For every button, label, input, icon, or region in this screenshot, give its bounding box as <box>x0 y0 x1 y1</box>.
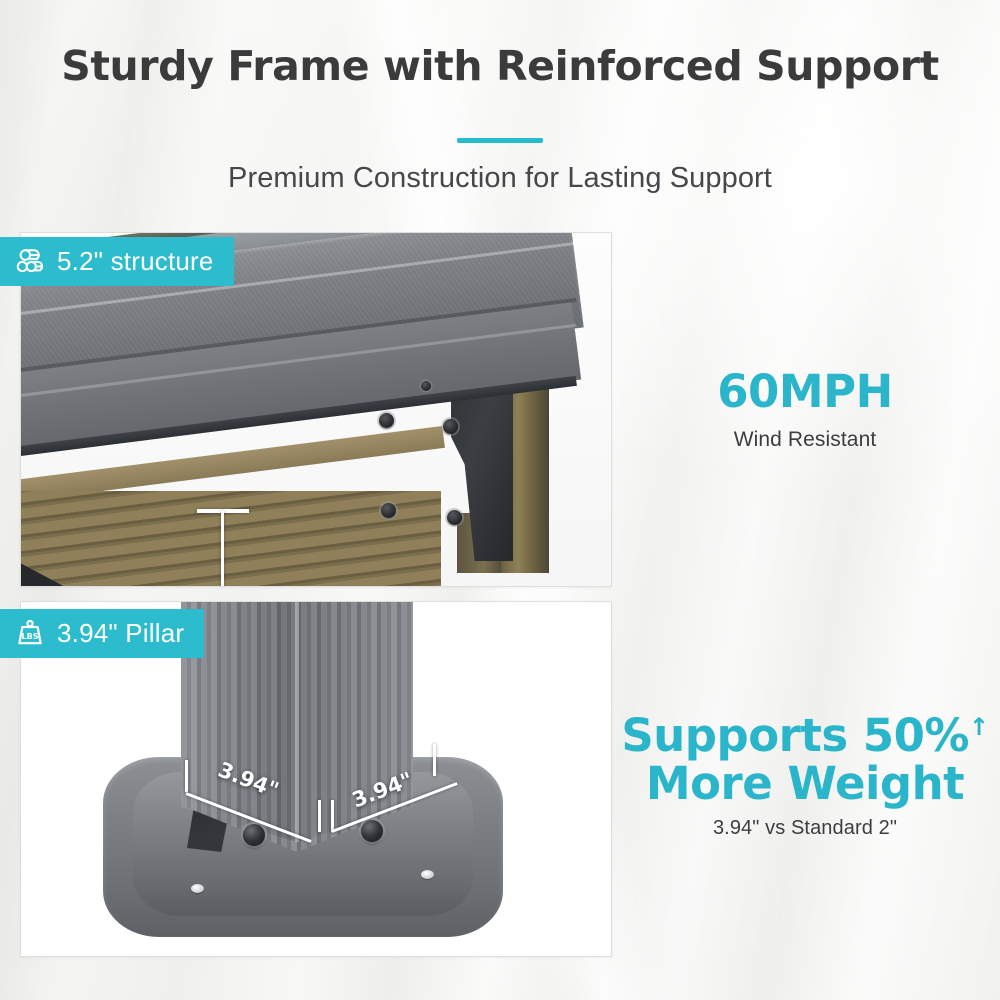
badge-pillar: LBS 3.94" Pillar <box>0 609 204 658</box>
up-arrow-icon: ↑ <box>969 713 989 741</box>
dimension-end-left <box>185 760 188 792</box>
bolt <box>421 381 431 391</box>
svg-text:LBS: LBS <box>22 632 39 641</box>
infographic-page: Sturdy Frame with Reinforced Support Pre… <box>0 0 1000 1000</box>
dimension-end-center-right <box>331 800 334 832</box>
bolt <box>443 419 458 434</box>
badge-pillar-label: 3.94" Pillar <box>57 618 184 649</box>
louver-slats <box>21 491 441 586</box>
page-title: Sturdy Frame with Reinforced Support <box>0 42 1000 90</box>
stat-wind-resistance: 60MPH Wind Resistant <box>630 368 980 452</box>
dimension-end-center-left <box>318 800 321 832</box>
stat-weight-caption: 3.94" vs Standard 2" <box>620 817 990 840</box>
title-divider <box>457 138 543 143</box>
anchor-hole <box>421 870 434 879</box>
stat-weight-capacity: Supports 50%↑ More Weight 3.94" vs Stand… <box>620 712 990 840</box>
beam-bundle-icon <box>13 244 47 278</box>
screw <box>361 820 383 842</box>
anchor-hole <box>191 884 204 893</box>
stat-weight-line1-row: Supports 50%↑ <box>620 712 990 760</box>
screw <box>243 824 265 846</box>
stat-weight-line2: More Weight <box>620 760 990 808</box>
stat-wind-caption: Wind Resistant <box>630 428 980 452</box>
badge-structure-label: 5.2" structure <box>57 246 214 277</box>
dimension-end-right <box>433 744 436 776</box>
bolt <box>447 510 462 525</box>
page-subtitle: Premium Construction for Lasting Support <box>0 162 1000 195</box>
bolt <box>379 413 394 428</box>
stat-wind-value: 60MPH <box>630 368 980 416</box>
dimension-line-vertical <box>221 511 224 586</box>
weight-lbs-icon: LBS <box>13 616 47 650</box>
bolt <box>381 503 396 518</box>
stat-weight-line1: Supports 50% <box>621 709 969 762</box>
pillar-corner-edge <box>295 602 299 842</box>
badge-structure: 5.2" structure <box>0 237 234 286</box>
